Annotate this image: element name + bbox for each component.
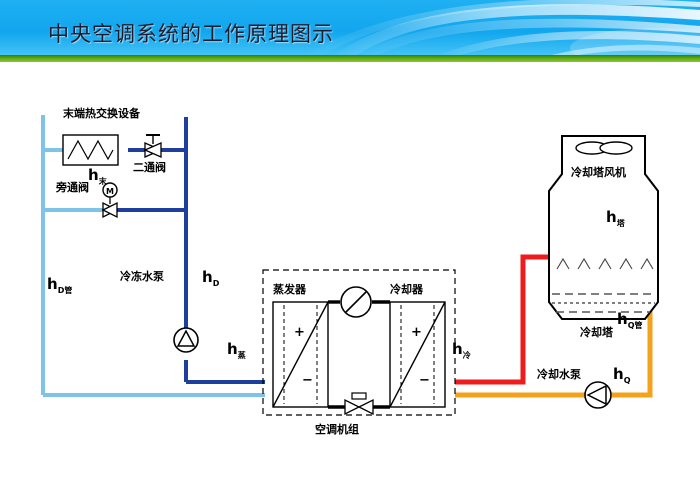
h-terminal-letter: h (88, 166, 99, 184)
h-q-pump-letter: h (613, 365, 624, 383)
h-condenser-letter: h (452, 340, 463, 358)
cooling-water-pump-label: 冷却水泵 (537, 369, 581, 380)
h-terminal-sub: 末 (99, 177, 107, 186)
h-q-pipe-letter: h (617, 310, 628, 328)
bypass-valve-icon: M (103, 183, 117, 217)
evaporator-block (273, 302, 328, 407)
h-tower-letter: h (606, 208, 617, 226)
h-condenser-label: h冷 (452, 342, 471, 360)
page-title: 中央空调系统的工作原理图示 (48, 18, 334, 48)
two-way-valve-icon (145, 135, 161, 157)
motor-actuator-symbol: M (106, 187, 114, 196)
h-evaporator-letter: h (227, 340, 238, 358)
h-d-pump-label: hD (202, 270, 219, 288)
h-q-pump-label: hQ (613, 367, 631, 385)
h-q-pump-sub: Q (624, 376, 631, 385)
cooling-water-pump-icon (585, 382, 611, 408)
cooling-tower-fan-icon (576, 142, 632, 154)
slide-page: 中央空调系统的工作原理图示 (0, 0, 700, 478)
h-d-pipe-letter: h (47, 275, 58, 293)
refrigerant-circuit (328, 302, 390, 407)
ahu-unit-label: 空调机组 (315, 424, 359, 435)
hvac-schematic: M (0, 62, 700, 478)
terminal-heat-exchanger (63, 135, 118, 165)
h-d-pump-letter: h (202, 268, 213, 286)
chilled-water-pump-icon (174, 328, 198, 352)
h-evaporator-label: h蒸 (227, 342, 246, 360)
h-tower-sub: 塔 (617, 219, 625, 228)
condenser-label: 冷却器 (390, 284, 423, 295)
condenser-block (390, 302, 445, 407)
h-q-pipe-label: hQ管 (617, 312, 643, 330)
h-condenser-sub: 冷 (463, 351, 471, 360)
chilled-water-pump-label: 冷冻水泵 (120, 271, 164, 282)
cooling-tower-body (549, 136, 658, 319)
evaporator-minus-sign: − (302, 374, 313, 387)
evaporator-label: 蒸发器 (273, 284, 306, 295)
h-d-pump-sub: D (213, 279, 220, 288)
expansion-valve-icon (345, 393, 373, 414)
evaporator-plus-sign: + (294, 326, 305, 339)
condenser-plus-sign: + (411, 326, 422, 339)
cooling-tower-fan-label: 冷却塔风机 (571, 167, 626, 178)
cooling-tower-label: 冷却塔 (580, 327, 613, 338)
two-way-valve-label: 二通阀 (133, 162, 166, 173)
h-d-pipe-label: hD管 (47, 277, 72, 295)
header-banner: 中央空调系统的工作原理图示 (0, 0, 700, 58)
compressor-icon (341, 287, 371, 317)
header-green-divider (0, 55, 700, 62)
condenser-minus-sign: − (419, 374, 430, 387)
bypass-valve-label: 旁通阀 (56, 182, 89, 193)
h-q-pipe-sub: Q管 (628, 321, 643, 330)
h-tower-label: h塔 (606, 210, 625, 228)
h-d-pipe-sub: D管 (58, 286, 73, 295)
terminal-unit-label: 末端热交换设备 (63, 108, 140, 119)
h-evaporator-sub: 蒸 (238, 351, 246, 360)
h-terminal-label: h末 (88, 168, 107, 186)
